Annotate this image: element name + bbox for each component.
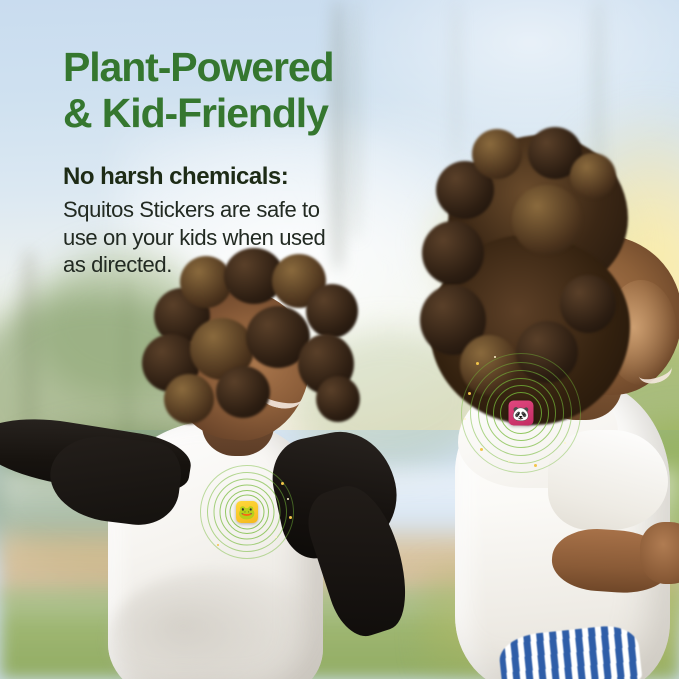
sparkle [289, 516, 292, 519]
product-lifestyle-poster: 🐸 🐼 Plant-Powered & Kid-Friendly No [0, 0, 679, 679]
sparkle [476, 362, 479, 365]
panda-sticker-badge: 🐼 [460, 352, 582, 474]
sparkle [464, 418, 466, 420]
hair-curl [316, 376, 360, 422]
sparkle [508, 460, 510, 462]
frog-icon: 🐸 [238, 505, 255, 519]
body-line-3: as directed. [63, 251, 483, 279]
sparkle [217, 544, 219, 546]
page-title: Plant-Powered & Kid-Friendly [63, 44, 483, 137]
sparkle [468, 392, 471, 395]
sparkle [275, 536, 277, 538]
headline-line-1: Plant-Powered [63, 44, 333, 90]
body-line-2: use on your kids when used [63, 224, 483, 252]
subheadline: No harsh chemicals: [63, 163, 483, 192]
frog-sticker-badge: 🐸 [199, 464, 295, 560]
panda-icon: 🐼 [512, 406, 529, 420]
frog-sticker: 🐸 [236, 501, 258, 523]
hair-curl [164, 374, 214, 424]
sparkle [534, 464, 537, 467]
body-line-1: Squitos Stickers are safe to [63, 196, 483, 224]
sparkle [281, 482, 284, 485]
body-copy: Squitos Stickers are safe to use on your… [63, 196, 483, 279]
left-child [0, 270, 390, 679]
marketing-copy-block: Plant-Powered & Kid-Friendly No harsh ch… [63, 44, 483, 279]
sparkle [480, 448, 483, 451]
hair-curl [306, 284, 358, 338]
right-child-fist [640, 522, 679, 584]
headline-line-2: & Kid-Friendly [63, 90, 483, 136]
hair-curl [216, 366, 270, 418]
sparkle [494, 356, 496, 358]
hair-curl [512, 185, 582, 255]
sparkle [564, 442, 566, 444]
left-child-shoulder-left [45, 430, 184, 529]
hair-curl [570, 153, 616, 199]
sparkle [287, 498, 289, 500]
hair-curl [560, 275, 616, 333]
panda-sticker: 🐼 [509, 401, 534, 426]
